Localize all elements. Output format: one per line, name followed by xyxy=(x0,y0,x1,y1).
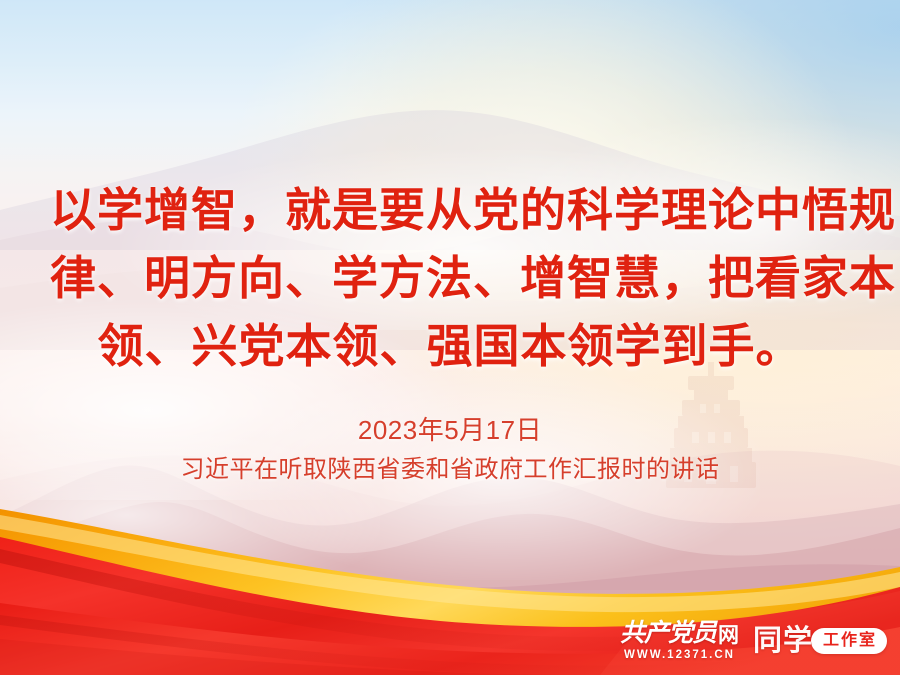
headline-line-3: 领、兴党本领、强国本领学到手。 xyxy=(50,312,850,380)
site-calligraphy-text: 共产党员 xyxy=(620,621,716,646)
site-url: WWW.12371.CN xyxy=(624,649,735,661)
logo-12371-site[interactable]: 共产党员网 WWW.12371.CN xyxy=(620,621,739,661)
site-calligraphy-wordmark: 共产党员网 xyxy=(620,621,739,646)
site-net-char: 网 xyxy=(718,625,739,646)
speech-date: 2023年5月17日 xyxy=(50,412,850,448)
studio-badge: 工作室 xyxy=(811,628,887,654)
studio-brand-text: 同学 xyxy=(753,627,813,656)
headline-quote: 以学增智，就是要从党的科学理论中悟规 律、明方向、学方法、增智慧，把看家本 领、… xyxy=(50,176,850,380)
logo-studio[interactable]: 同学 工作室 xyxy=(753,627,887,656)
poster-canvas: 以学增智，就是要从党的科学理论中悟规 律、明方向、学方法、增智慧，把看家本 领、… xyxy=(0,0,900,675)
logo-lockup: 共产党员网 WWW.12371.CN 同学 工作室 xyxy=(620,621,887,661)
headline-line-1: 以学增智，就是要从党的科学理论中悟规 xyxy=(50,176,850,244)
headline-line-2: 律、明方向、学方法、增智慧，把看家本 xyxy=(50,244,850,312)
